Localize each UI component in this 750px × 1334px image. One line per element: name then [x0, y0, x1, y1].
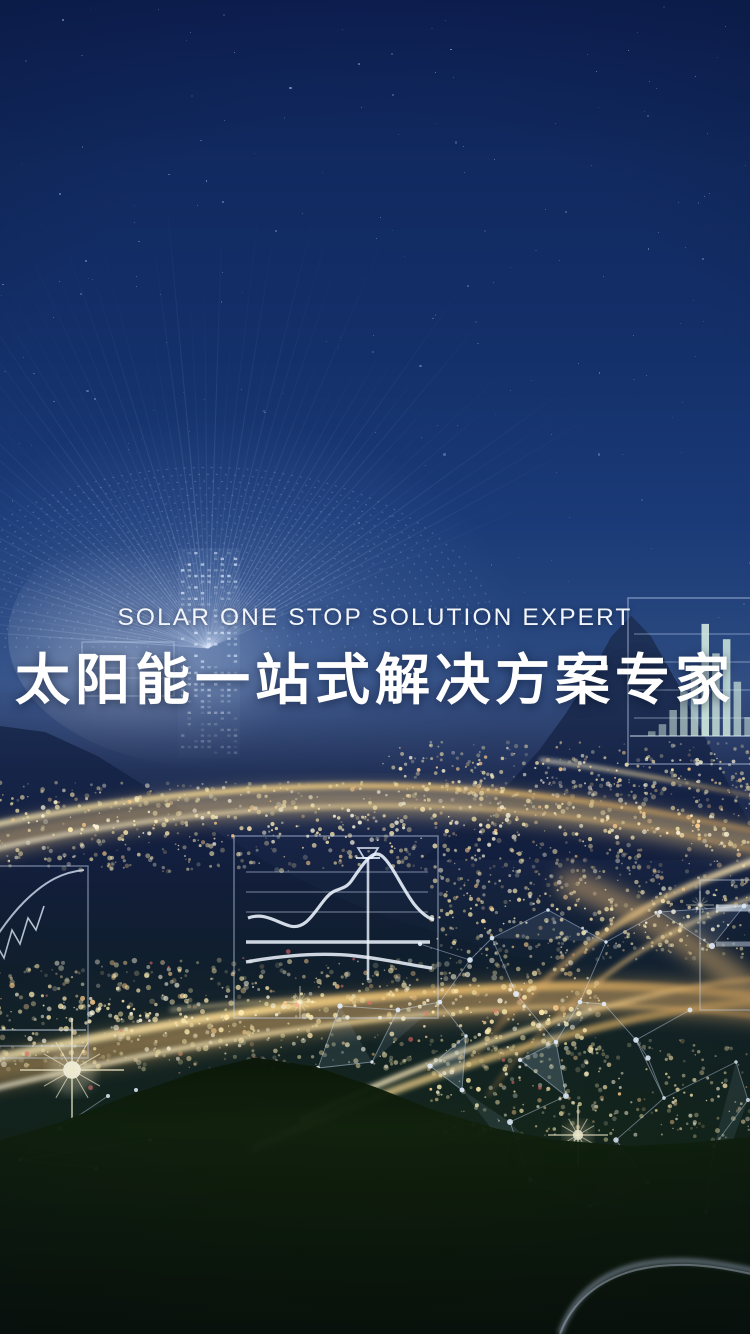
star [94, 398, 96, 400]
star [663, 6, 665, 8]
star [136, 451, 137, 452]
star [628, 50, 630, 52]
star [41, 225, 43, 227]
forest-shade [0, 1040, 750, 1334]
banner-subtitle: SOLAR ONE STOP SOLUTION EXPERT [0, 606, 750, 631]
star [361, 107, 362, 108]
star [340, 337, 341, 338]
banner-headline: 太阳能一站式解决方案专家 [0, 653, 750, 708]
star [66, 509, 68, 511]
star [419, 365, 421, 367]
star [12, 500, 14, 502]
star [158, 9, 159, 10]
star [53, 401, 55, 403]
star [136, 286, 137, 287]
star [4, 371, 6, 373]
star [531, 380, 532, 381]
star [578, 363, 579, 364]
star [633, 379, 635, 381]
star [408, 535, 409, 536]
star [274, 466, 275, 467]
star [646, 375, 647, 376]
star [398, 134, 399, 135]
star [475, 321, 477, 323]
star [242, 292, 243, 293]
star [183, 392, 184, 393]
star [587, 54, 588, 55]
star [651, 548, 652, 549]
star [191, 95, 193, 97]
star [556, 472, 557, 473]
star [637, 32, 638, 33]
star [221, 301, 223, 303]
star [703, 321, 704, 322]
star [495, 414, 496, 415]
star [1, 295, 2, 296]
star [545, 209, 546, 210]
star [717, 57, 718, 58]
star [206, 180, 208, 182]
star [745, 165, 746, 166]
star [649, 81, 650, 82]
star [289, 87, 291, 89]
star [693, 300, 694, 301]
star [128, 449, 129, 450]
star [153, 410, 154, 411]
star [425, 465, 426, 466]
star [186, 40, 187, 41]
star [19, 443, 20, 444]
hud-right-bracket [700, 880, 750, 1010]
star [21, 164, 22, 165]
star [342, 29, 343, 30]
star [85, 260, 87, 262]
star [82, 146, 84, 148]
star [59, 193, 61, 195]
star [431, 28, 433, 30]
star [464, 546, 465, 547]
star [633, 335, 634, 336]
star [204, 399, 205, 400]
star [551, 560, 552, 561]
star [421, 437, 422, 438]
star [136, 276, 137, 277]
star [463, 146, 464, 147]
star [510, 267, 511, 268]
star [23, 357, 24, 358]
star [164, 479, 165, 480]
star [101, 523, 102, 524]
star [380, 217, 381, 218]
star [68, 579, 70, 581]
star [598, 107, 599, 108]
star [695, 356, 696, 357]
star [223, 14, 225, 16]
star [134, 222, 135, 223]
star [283, 393, 284, 394]
star [2, 284, 4, 286]
star [565, 211, 567, 213]
star [53, 317, 54, 318]
star [599, 372, 601, 374]
star [264, 588, 266, 590]
star [189, 431, 190, 432]
star [450, 49, 452, 51]
star [453, 77, 454, 78]
hud-bar [659, 724, 667, 736]
hud-line-chart-panel [0, 866, 88, 1058]
star [190, 32, 191, 33]
star [484, 230, 486, 232]
star [284, 117, 286, 119]
star [90, 9, 91, 10]
star [373, 335, 374, 336]
star [323, 578, 324, 579]
star [59, 281, 60, 282]
star [555, 123, 556, 124]
hud-bar [744, 717, 750, 736]
star [569, 517, 570, 518]
star [477, 343, 479, 345]
star [437, 425, 438, 426]
star [644, 111, 645, 112]
star [392, 94, 394, 96]
star [672, 417, 673, 418]
star [682, 402, 683, 403]
forest-hill [0, 1040, 750, 1334]
star [596, 71, 597, 72]
banner-stage: SOLAR ONE STOP SOLUTION EXPERT 太阳能一站式解决方… [0, 0, 750, 1334]
star [702, 258, 704, 260]
sky-glow [0, 0, 750, 1041]
star [186, 457, 188, 459]
star [435, 123, 436, 124]
star [455, 141, 457, 143]
star [494, 159, 495, 160]
star [695, 76, 696, 77]
star [275, 230, 277, 232]
star [685, 247, 686, 248]
star [641, 499, 643, 501]
star [242, 588, 243, 589]
mountain-left [0, 690, 750, 990]
star [598, 453, 600, 455]
star [269, 490, 270, 491]
star [81, 55, 83, 57]
star [658, 232, 659, 233]
star [302, 213, 303, 214]
star [648, 248, 650, 250]
star [707, 133, 708, 134]
star [197, 205, 198, 206]
star [376, 238, 377, 239]
star [709, 193, 710, 194]
star [568, 581, 570, 583]
star [392, 230, 393, 231]
star [591, 165, 593, 167]
star [358, 522, 360, 524]
sky-gradient [0, 0, 750, 1041]
star [392, 515, 394, 517]
star [160, 294, 161, 295]
star [622, 454, 624, 456]
star [33, 373, 35, 375]
star [435, 314, 437, 316]
star [432, 318, 434, 320]
star [467, 285, 469, 287]
star [656, 88, 657, 89]
star [743, 603, 745, 605]
radiating-light-fan [0, 0, 750, 1041]
star [391, 53, 393, 55]
star [168, 174, 170, 176]
star [254, 153, 255, 154]
star [443, 453, 445, 455]
star [535, 250, 537, 252]
star [457, 425, 458, 426]
star [88, 278, 89, 279]
star [272, 546, 273, 547]
hud-bar [648, 731, 656, 736]
star [141, 439, 142, 440]
star [524, 592, 525, 593]
star [222, 201, 224, 203]
star [680, 323, 681, 324]
star [464, 172, 466, 174]
star [138, 241, 140, 243]
star [62, 19, 64, 21]
star [120, 524, 122, 526]
star [678, 202, 679, 203]
star [92, 279, 94, 281]
star [100, 523, 102, 525]
star [263, 410, 265, 412]
star [435, 72, 436, 73]
star [185, 546, 186, 547]
star [31, 445, 32, 446]
star [86, 390, 88, 392]
star [382, 568, 383, 569]
star [358, 63, 360, 65]
star [127, 593, 129, 595]
star [200, 140, 202, 142]
star [326, 341, 327, 342]
star [491, 564, 493, 566]
star [698, 202, 700, 204]
star [372, 351, 374, 353]
star [224, 120, 225, 121]
star [367, 545, 369, 547]
hud-bar [669, 710, 677, 736]
star [375, 432, 377, 434]
ground-base [0, 680, 750, 1334]
star [725, 26, 726, 27]
star [338, 347, 339, 348]
banner-text-block: SOLAR ONE STOP SOLUTION EXPERT 太阳能一站式解决方… [0, 606, 750, 708]
star [704, 196, 705, 197]
star [510, 390, 512, 392]
star [105, 443, 107, 445]
star [518, 557, 519, 558]
star [25, 60, 27, 62]
star [603, 276, 605, 278]
star [322, 172, 323, 173]
star [559, 260, 561, 262]
star [551, 434, 552, 435]
star [234, 52, 235, 53]
star [445, 20, 446, 21]
star [134, 205, 135, 206]
star [493, 282, 494, 283]
star [264, 412, 266, 414]
star [681, 452, 682, 453]
star [647, 115, 649, 117]
hud-wave-tower-panel [234, 836, 438, 1018]
star [8, 578, 9, 579]
star [128, 443, 129, 444]
star [80, 293, 82, 295]
star [166, 342, 167, 343]
star [241, 389, 242, 390]
star [404, 256, 406, 258]
star [222, 272, 223, 273]
